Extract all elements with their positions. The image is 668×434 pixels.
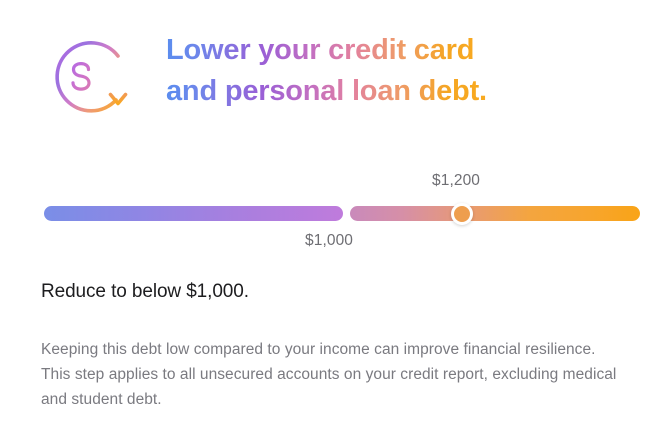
card-header: Lower your credit card and personal loan… xyxy=(40,28,487,126)
slider-target-value-label: $1,000 xyxy=(305,232,353,250)
slider-current-value-label: $1,200 xyxy=(432,172,480,190)
slider-track-left[interactable] xyxy=(44,206,343,221)
headline-line-2: and personal loan debt. xyxy=(166,71,487,112)
debt-reduction-card: Lower your credit card and personal loan… xyxy=(0,0,668,434)
slider-thumb[interactable] xyxy=(451,203,473,225)
page-title: Lower your credit card and personal loan… xyxy=(166,30,487,112)
section-description: Keeping this debt low compared to your i… xyxy=(41,337,621,412)
dollar-refresh-down-arrow-icon xyxy=(40,34,148,126)
headline-line-1: Lower your credit card xyxy=(166,30,487,71)
slider-track-right[interactable] xyxy=(350,206,640,221)
section-subheading: Reduce to below $1,000. xyxy=(41,281,249,303)
